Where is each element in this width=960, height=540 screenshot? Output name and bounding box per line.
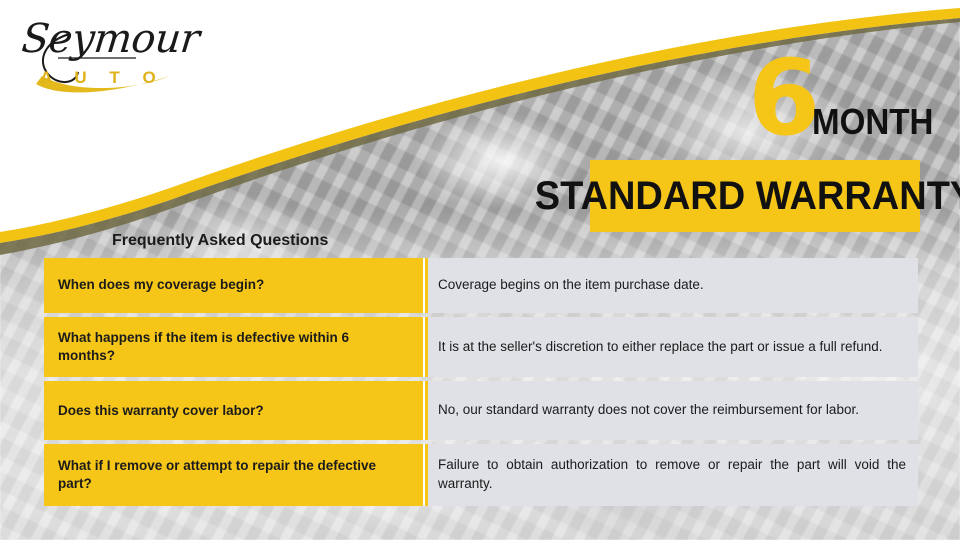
warranty-duration-number: 6 [748,46,818,150]
faq-question-cell: When does my coverage begin? [44,258,423,313]
standard-warranty-label: STANDARD WARRANTY [598,160,912,232]
faq-answer-cell: No, our standard warranty does not cover… [425,381,918,440]
logo-auto-text: A U T O [40,68,165,88]
faq-question-cell: What if I remove or attempt to repair th… [44,444,423,506]
faq-answer-cell: Failure to obtain authorization to remov… [425,444,918,506]
table-row: When does my coverage begin? Coverage be… [44,258,918,313]
faq-question-cell: Does this warranty cover labor? [44,381,423,440]
faq-table: When does my coverage begin? Coverage be… [44,258,918,510]
standard-warranty-banner: STANDARD WARRANTY [590,160,920,232]
table-row: What if I remove or attempt to repair th… [44,444,918,506]
seymour-auto-logo: Seymour A U T O [18,14,198,100]
table-row: Does this warranty cover labor? No, our … [44,381,918,440]
faq-heading: Frequently Asked Questions [112,232,328,250]
faq-question-cell: What happens if the item is defective wi… [44,317,423,377]
faq-answer-cell: It is at the seller's discretion to eith… [425,317,918,377]
warranty-slide: Seymour A U T O 6 MONTH STANDARD WARRANT… [0,0,960,540]
warranty-duration-unit: MONTH [812,104,933,140]
faq-answer-cell: Coverage begins on the item purchase dat… [425,258,918,313]
table-row: What happens if the item is defective wi… [44,317,918,377]
